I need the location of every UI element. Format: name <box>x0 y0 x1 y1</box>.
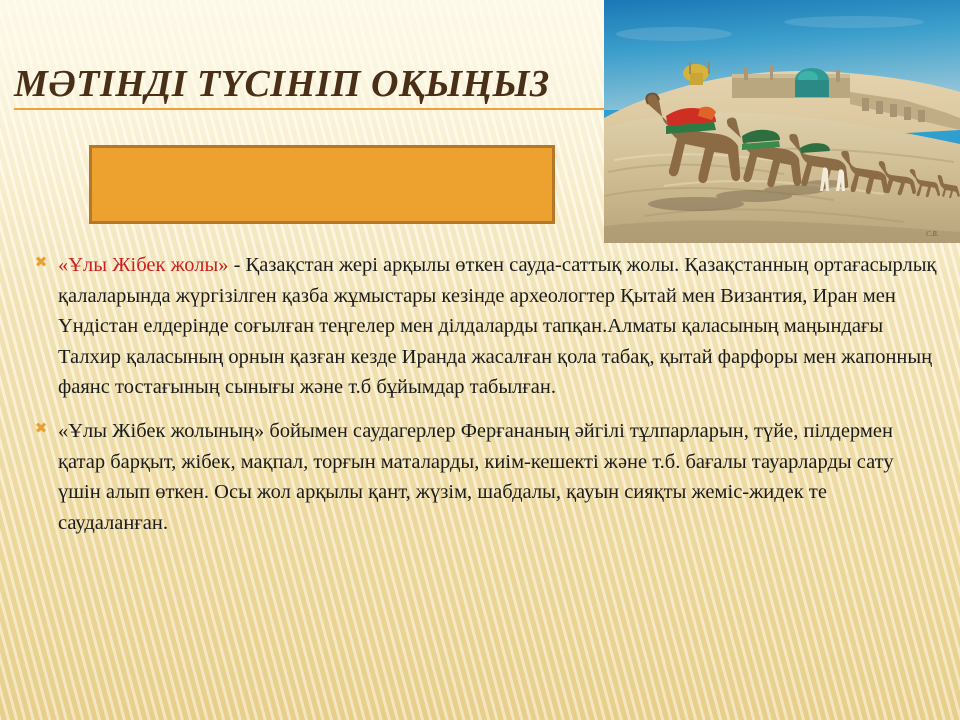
page-title: МӘТІНДІ ТҮСІНІП ОҚЫҢЫЗ <box>14 62 550 106</box>
paragraph-1: «Ұлы Жібек жолы» - Қазақстан жері арқылы… <box>58 254 936 398</box>
camel-caravan-painting: C.B. <box>604 0 960 243</box>
body-text-block: ✖ «Ұлы Жібек жолы» - Қазақстан жері арқы… <box>26 250 938 551</box>
title-block: МӘТІНДІ ТҮСІНІП ОҚЫҢЫЗ <box>0 62 620 118</box>
paragraph-1-lead: «Ұлы Жібек жолы» <box>58 254 228 276</box>
callout-box[interactable] <box>89 145 555 224</box>
bullet-star-icon: ✖ <box>34 255 48 269</box>
list-item: ✖ «Ұлы Жібек жолы» - Қазақстан жері арқы… <box>26 250 938 403</box>
bullet-star-icon: ✖ <box>34 421 48 435</box>
paragraph-2-lead: «Ұлы Жібек жолының» <box>58 420 264 442</box>
paragraph-2: «Ұлы Жібек жолының» бойымен саудагерлер … <box>58 420 894 534</box>
list-item: ✖ «Ұлы Жібек жолының» бойымен саудагерле… <box>26 416 938 538</box>
slide-canvas: МӘТІНДІ ТҮСІНІП ОҚЫҢЫЗ <box>0 0 960 720</box>
svg-text:C.B.: C.B. <box>926 230 939 238</box>
title-underline-rule <box>14 108 614 110</box>
